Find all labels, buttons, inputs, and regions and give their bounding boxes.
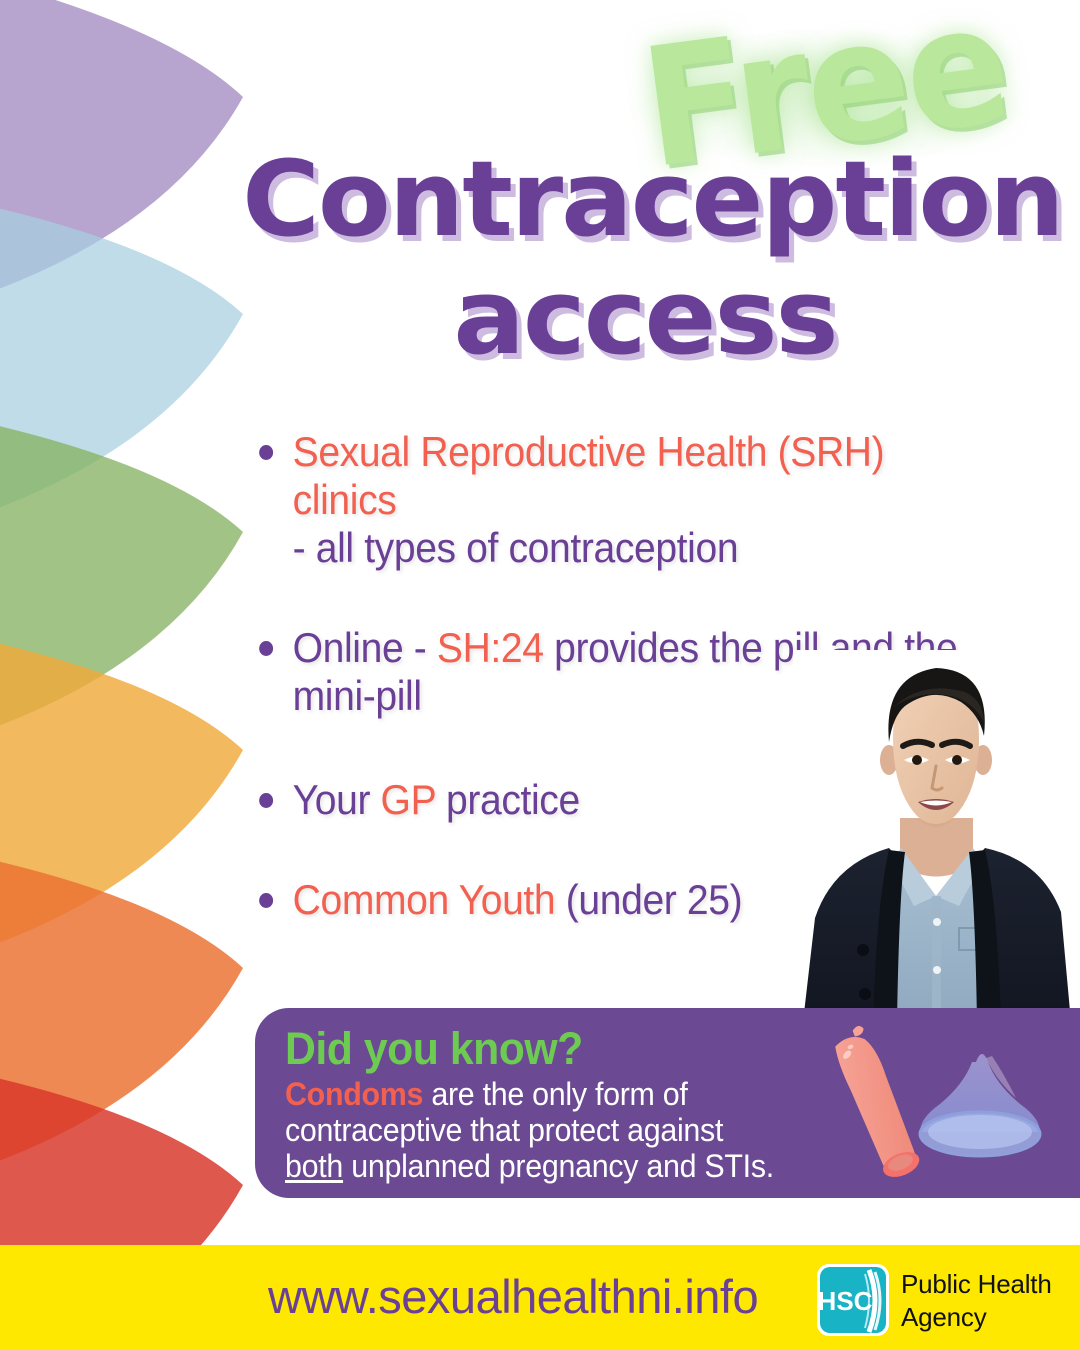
- dyk-bold-word: Condoms: [285, 1076, 423, 1112]
- hsc-logo-icon: HSC: [815, 1262, 891, 1338]
- leaf-green: [0, 382, 243, 786]
- bullet-dot-icon: [259, 641, 273, 656]
- bullet-dot-icon: [259, 793, 273, 808]
- bullet-4-highlight: Common Youth: [293, 876, 556, 923]
- leaf-blue: [0, 165, 243, 568]
- leaf-amber: [0, 600, 243, 1003]
- did-you-know-panel: Did you know? Condoms are the only form …: [255, 1008, 1080, 1198]
- bullet-3-post: practice: [436, 776, 580, 823]
- dyk-text-after: unplanned pregnancy and STIs.: [343, 1148, 774, 1184]
- footer-bar: www.sexualhealthni.info HSC Public Healt…: [0, 1245, 1080, 1350]
- bullet-2-pre: Online -: [293, 624, 437, 671]
- leaf-purple: [0, 0, 243, 350]
- website-url[interactable]: www.sexualhealthni.info: [268, 1271, 758, 1323]
- pha-logo-block: HSC Public Health Agency: [815, 1260, 1080, 1340]
- bullet-dot-icon: [259, 445, 273, 460]
- poster-canvas: Free Contraception access Sexual Reprodu…: [0, 0, 1080, 1350]
- pha-line-1: Public Health: [901, 1268, 1052, 1301]
- did-you-know-heading: Did you know?: [285, 1024, 583, 1074]
- bullet-1-highlight: Sexual Reproductive Health (SRH) clinics: [293, 428, 885, 523]
- bullet-3-pre: Your: [293, 776, 381, 823]
- bullet-3-highlight: GP: [381, 776, 436, 823]
- did-you-know-body: Condoms are the only form of contracepti…: [285, 1076, 779, 1184]
- svg-text:HSC: HSC: [818, 1286, 873, 1316]
- page-title: Contraception access: [242, 140, 1048, 376]
- leaf-orange: [0, 818, 243, 1221]
- pha-org-name: Public Health Agency: [901, 1268, 1052, 1334]
- pha-line-2: Agency: [901, 1301, 1052, 1334]
- condom-pink: [829, 1023, 924, 1182]
- bullet-dot-icon: [259, 893, 273, 908]
- title-line-2: access: [242, 258, 1048, 376]
- photo-young-man: [793, 650, 1080, 1022]
- bullet-4-post: (under 25): [555, 876, 742, 923]
- bullet-1-line2: - all types of contraception: [293, 524, 739, 571]
- condom-blue: [920, 1054, 1040, 1156]
- bullet-2-highlight: SH:24: [437, 624, 544, 671]
- dyk-underlined-word: both: [285, 1148, 343, 1184]
- bullet-2-line2: mini-pill: [293, 672, 422, 719]
- title-line-1: Contraception: [242, 138, 1063, 260]
- spacer: [248, 572, 1038, 624]
- condom-illustration: [790, 1018, 1060, 1190]
- list-item: Sexual Reproductive Health (SRH) clinics…: [248, 428, 983, 572]
